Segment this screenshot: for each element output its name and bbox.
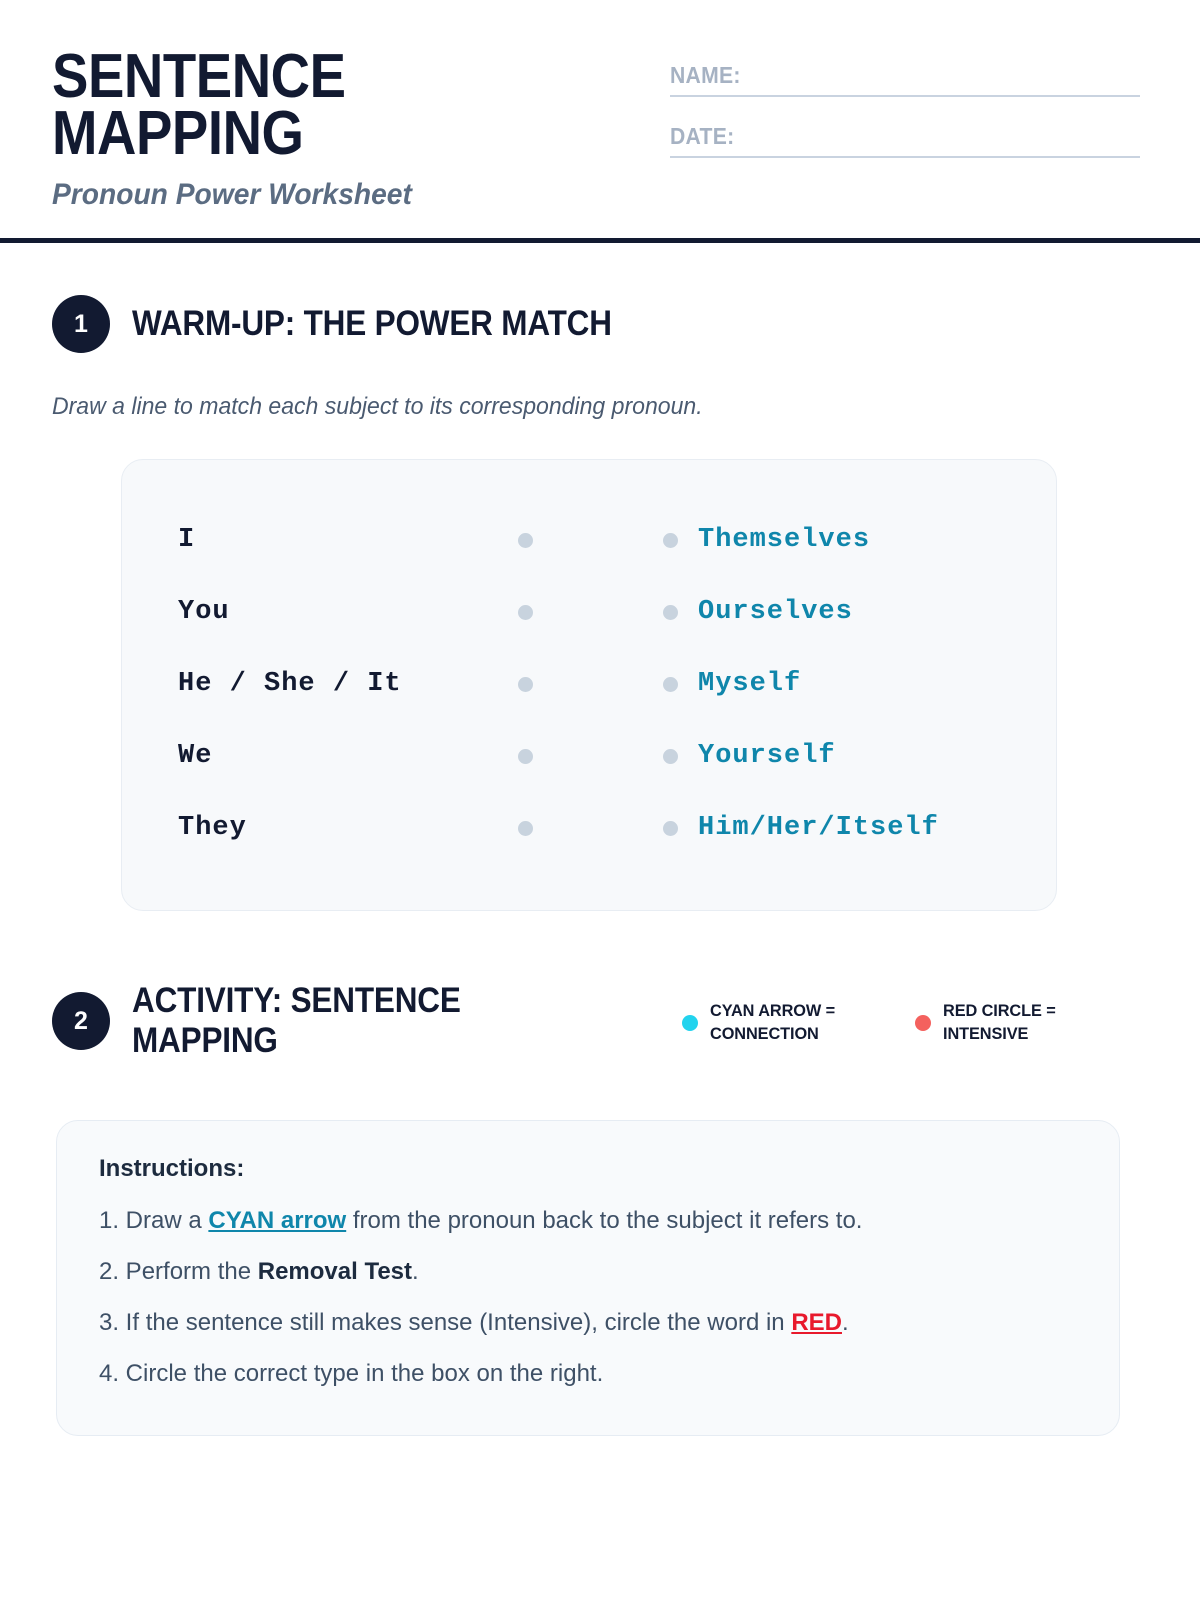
match-subject: We xyxy=(178,741,518,771)
name-field-row[interactable]: NAME: xyxy=(670,62,1140,97)
instruction-text-after: . xyxy=(412,1258,419,1285)
step-badge-2: 2 xyxy=(52,992,110,1050)
match-dot-right-icon[interactable] xyxy=(663,605,678,620)
match-subject: I xyxy=(178,525,518,555)
instruction-item: 4. Circle the correct type in the box on… xyxy=(99,1358,1077,1389)
match-dot-right-icon[interactable] xyxy=(663,821,678,836)
match-dot-right-icon[interactable] xyxy=(663,749,678,764)
instruction-emphasis: CYAN arrow xyxy=(208,1207,346,1234)
instructions-box: Instructions: 1. Draw a CYAN arrow from … xyxy=(56,1120,1120,1437)
legend-label-cyan: CYAN ARROW = CONNECTION xyxy=(710,1000,835,1046)
match-dot-right-icon[interactable] xyxy=(663,533,678,548)
match-dot-left-icon[interactable] xyxy=(518,533,533,548)
instruction-text-after: . xyxy=(842,1309,849,1336)
date-field-row[interactable]: DATE: xyxy=(670,123,1140,158)
instruction-text-before: Circle the correct type in the box on th… xyxy=(119,1360,603,1387)
instruction-number: 2. xyxy=(99,1258,119,1285)
legend-label-red: RED CIRCLE = INTENSIVE xyxy=(943,1000,1056,1046)
instruction-text-before: If the sentence still makes sense (Inten… xyxy=(119,1309,791,1336)
instruction-item: 1. Draw a CYAN arrow from the pronoun ba… xyxy=(99,1205,1077,1236)
cyan-dot-icon xyxy=(682,1015,698,1031)
instruction-text-after: from the pronoun back to the subject it … xyxy=(346,1207,862,1234)
instruction-item: 3. If the sentence still makes sense (In… xyxy=(99,1307,1077,1338)
match-subject: They xyxy=(178,813,518,843)
instruction-emphasis: Removal Test xyxy=(258,1258,412,1285)
match-pronoun: Yourself xyxy=(698,741,836,771)
match-pronoun: Myself xyxy=(698,669,801,699)
title-block: SENTENCE MAPPING Pronoun Power Worksheet xyxy=(52,48,612,212)
header-divider xyxy=(0,238,1200,243)
instruction-text-before: Draw a xyxy=(119,1207,208,1234)
match-pronoun: Him/Her/Itself xyxy=(698,813,939,843)
section-2-header: 2 ACTIVITY: SENTENCE MAPPING CYAN ARROW … xyxy=(52,981,1140,1062)
section-1-header: 1 WARM-UP: THE POWER MATCH xyxy=(52,295,1140,353)
red-dot-icon xyxy=(915,1015,931,1031)
match-row[interactable]: I Themselves xyxy=(178,504,1000,576)
section-warm-up: 1 WARM-UP: THE POWER MATCH Draw a line t… xyxy=(0,295,1200,911)
step-badge-1: 1 xyxy=(52,295,110,353)
match-dot-left-icon[interactable] xyxy=(518,821,533,836)
match-pronoun: Themselves xyxy=(698,525,870,555)
legend: CYAN ARROW = CONNECTION RED CIRCLE = INT… xyxy=(682,1000,1060,1046)
section-2-title-group: 2 ACTIVITY: SENTENCE MAPPING xyxy=(52,981,497,1062)
match-subject: You xyxy=(178,597,518,627)
instruction-number: 1. xyxy=(99,1207,119,1234)
match-row[interactable]: We Yourself xyxy=(178,720,1000,792)
match-row[interactable]: You Ourselves xyxy=(178,576,1000,648)
legend-item-cyan: CYAN ARROW = CONNECTION xyxy=(682,1000,840,1046)
section-1-note: Draw a line to match each subject to its… xyxy=(52,393,1096,421)
match-subject: He / She / It xyxy=(178,669,518,699)
section-activity: 2 ACTIVITY: SENTENCE MAPPING CYAN ARROW … xyxy=(0,981,1200,1436)
worksheet-header: SENTENCE MAPPING Pronoun Power Worksheet… xyxy=(0,0,1200,212)
page-title: SENTENCE MAPPING xyxy=(52,48,545,162)
legend-item-red: RED CIRCLE = INTENSIVE xyxy=(915,1000,1060,1046)
section-2-title: ACTIVITY: SENTENCE MAPPING xyxy=(132,981,461,1062)
meta-fields: NAME: DATE: xyxy=(670,62,1140,184)
instruction-number: 4. xyxy=(99,1360,119,1387)
match-dot-left-icon[interactable] xyxy=(518,605,533,620)
date-label: DATE: xyxy=(670,123,734,150)
page-subtitle: Pronoun Power Worksheet xyxy=(52,178,578,212)
match-row[interactable]: He / She / It Myself xyxy=(178,648,1000,720)
name-label: NAME: xyxy=(670,62,741,89)
instruction-item: 2. Perform the Removal Test. xyxy=(99,1256,1077,1287)
match-dot-left-icon[interactable] xyxy=(518,749,533,764)
match-pronoun: Ourselves xyxy=(698,597,853,627)
section-1-title: WARM-UP: THE POWER MATCH xyxy=(132,304,612,344)
match-dot-left-icon[interactable] xyxy=(518,677,533,692)
instructions-heading: Instructions: xyxy=(99,1155,1077,1183)
instruction-text-before: Perform the xyxy=(119,1258,258,1285)
match-row[interactable]: They Him/Her/Itself xyxy=(178,792,1000,864)
instruction-emphasis: RED xyxy=(791,1309,842,1336)
instruction-number: 3. xyxy=(99,1309,119,1336)
match-panel: I Themselves You Ourselves He / She / It… xyxy=(121,459,1057,911)
match-dot-right-icon[interactable] xyxy=(663,677,678,692)
